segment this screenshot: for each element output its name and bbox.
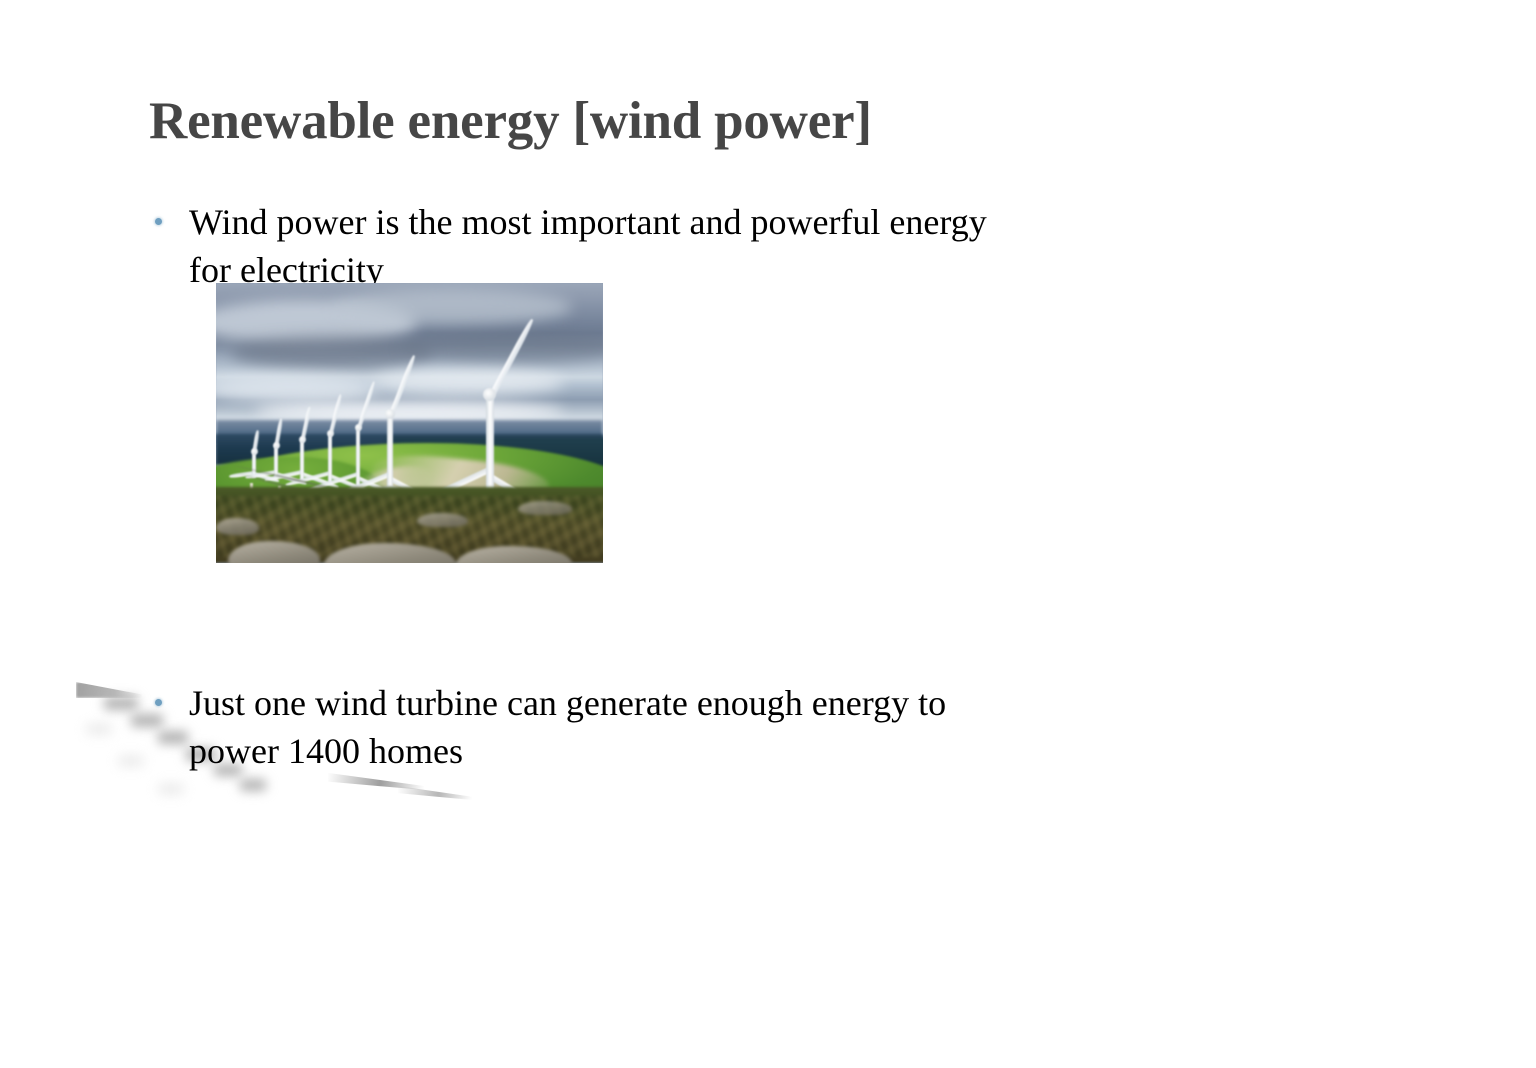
list-item-line: Just one wind turbine can generate enoug…: [189, 679, 1079, 727]
slide-canvas: Renewable energy [wind power] Wind power…: [0, 0, 1536, 1068]
list-item-line: Wind power is the most important and pow…: [189, 198, 1079, 246]
artifact-block: [240, 779, 266, 791]
list-item-text: Wind power is the most important and pow…: [189, 198, 1079, 294]
artifact-faint-block: [86, 724, 112, 734]
rock: [518, 501, 572, 515]
artifact-faint-block: [158, 784, 184, 794]
wind-farm-photo: [216, 283, 603, 563]
list-item-line: power 1400 homes: [189, 727, 1079, 775]
cloud: [231, 336, 432, 370]
artifact-block: [104, 697, 138, 710]
cloud: [332, 289, 572, 325]
artifact-faint-block: [118, 756, 144, 766]
list-item: Wind power is the most important and pow…: [155, 198, 1115, 294]
bullet-dot-icon: [155, 679, 189, 706]
rock: [417, 513, 467, 527]
list-item-text: Just one wind turbine can generate enoug…: [189, 679, 1079, 775]
artifact-wedge: [76, 682, 142, 698]
bullet-dot-icon: [155, 198, 189, 225]
photo-content: [216, 283, 603, 563]
rock: [216, 518, 259, 535]
list-item: Just one wind turbine can generate enoug…: [155, 679, 1115, 775]
page-title: Renewable energy [wind power]: [149, 90, 1329, 152]
